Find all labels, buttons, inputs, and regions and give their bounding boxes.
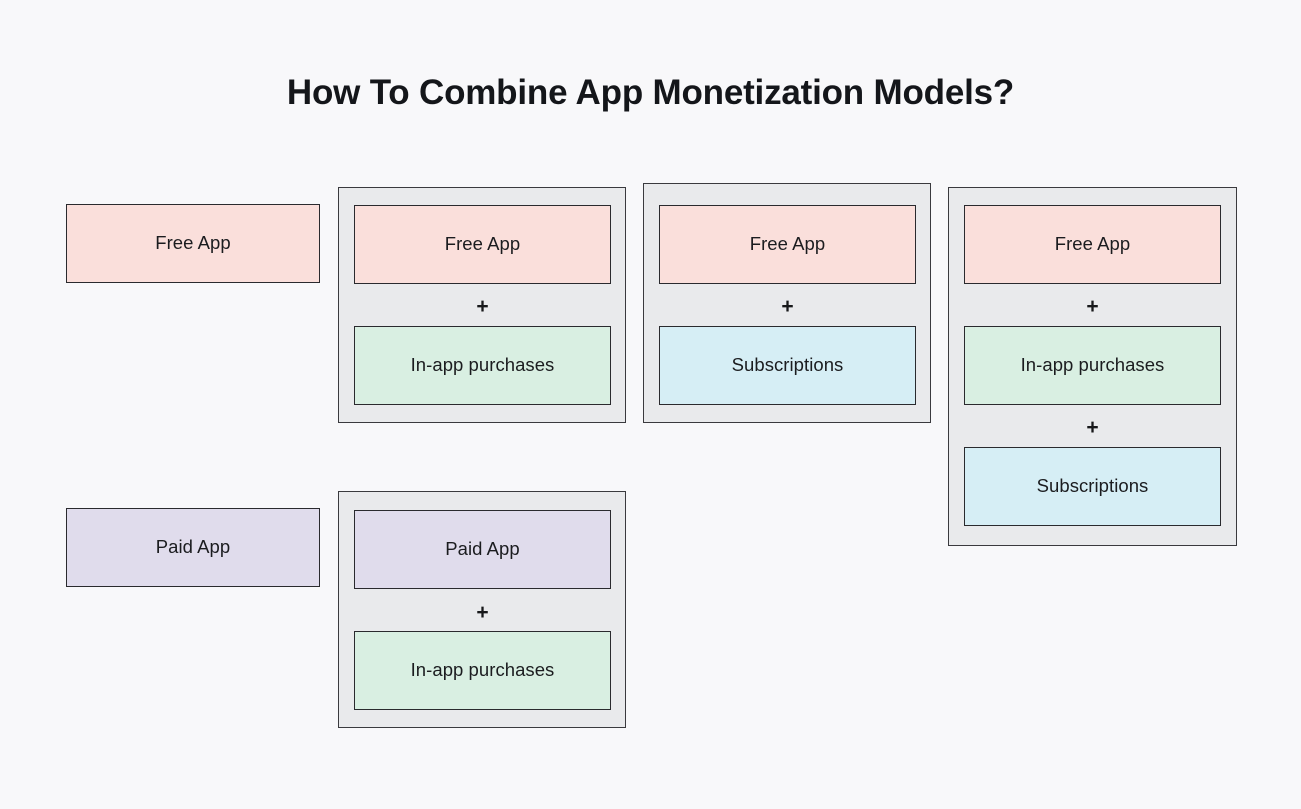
node-in-app-purchases-c2[interactable]: In-app purchases [354, 326, 611, 405]
node-in-app-purchases-c4[interactable]: In-app purchases [964, 326, 1221, 405]
node-free-app-c4[interactable]: Free App [964, 205, 1221, 284]
plus-connector-c2-bottom: + [354, 598, 611, 626]
node-paid-app-standalone[interactable]: Paid App [66, 508, 320, 587]
node-subscriptions-c3[interactable]: Subscriptions [659, 326, 916, 405]
plus-connector-c4-second: + [964, 413, 1221, 441]
node-free-app-standalone[interactable]: Free App [66, 204, 320, 283]
page-title: How To Combine App Monetization Models? [0, 72, 1301, 114]
node-free-app-c2[interactable]: Free App [354, 205, 611, 284]
diagram-canvas: How To Combine App Monetization Models? … [0, 0, 1301, 809]
node-in-app-purchases-c2-bottom[interactable]: In-app purchases [354, 631, 611, 710]
plus-connector-c2-top: + [354, 292, 611, 320]
plus-connector-c4-first: + [964, 292, 1221, 320]
node-free-app-c3[interactable]: Free App [659, 205, 916, 284]
node-paid-app-c2[interactable]: Paid App [354, 510, 611, 589]
node-subscriptions-c4[interactable]: Subscriptions [964, 447, 1221, 526]
plus-connector-c3-top: + [659, 292, 916, 320]
